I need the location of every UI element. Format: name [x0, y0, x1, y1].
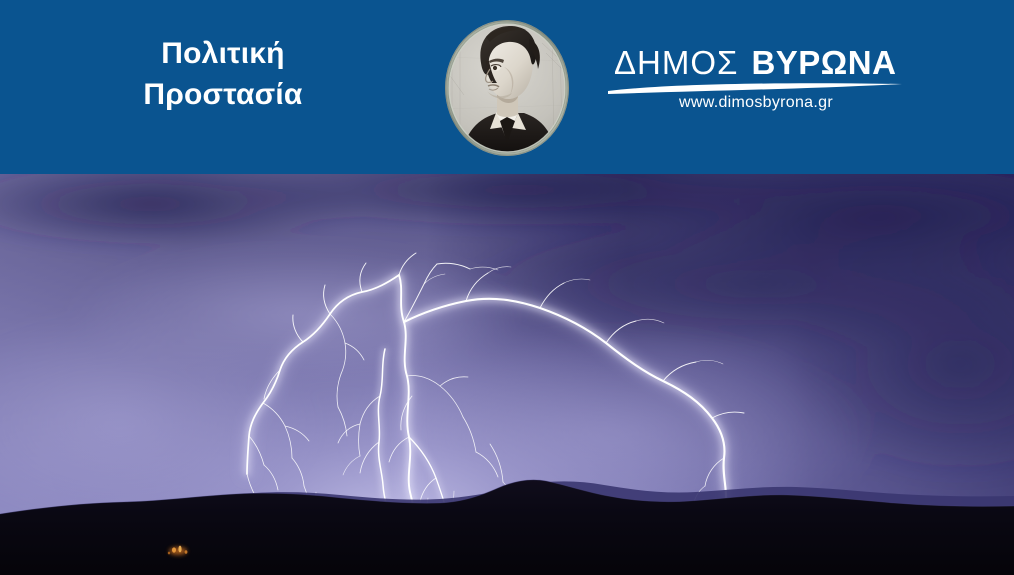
municipality-logo-dimos: ΔΗΜΟΣ — [614, 44, 738, 81]
page-title: Πολιτική Προστασία — [98, 33, 348, 115]
lord-byron-portrait-medallion — [434, 17, 580, 159]
page-title-line-2: Προστασία — [98, 74, 348, 115]
header-banner: Πολιτική Προστασία — [0, 0, 1014, 174]
municipality-website-url: www.dimosbyrona.gr — [606, 94, 906, 112]
municipality-logo-byrona: ΒΥΡΩΝΑ — [751, 44, 896, 81]
municipality-logo-wordmark: ΔΗΜΟΣΒΥΡΩΝΑ — [614, 44, 896, 82]
lightning-storm-photograph — [0, 174, 1014, 575]
municipality-logo[interactable]: ΔΗΜΟΣΒΥΡΩΝΑ www.dimosbyrona.gr — [606, 44, 916, 124]
page-title-line-1: Πολιτική — [98, 33, 348, 74]
civil-protection-banner-page: Πολιτική Προστασία — [0, 0, 1014, 575]
